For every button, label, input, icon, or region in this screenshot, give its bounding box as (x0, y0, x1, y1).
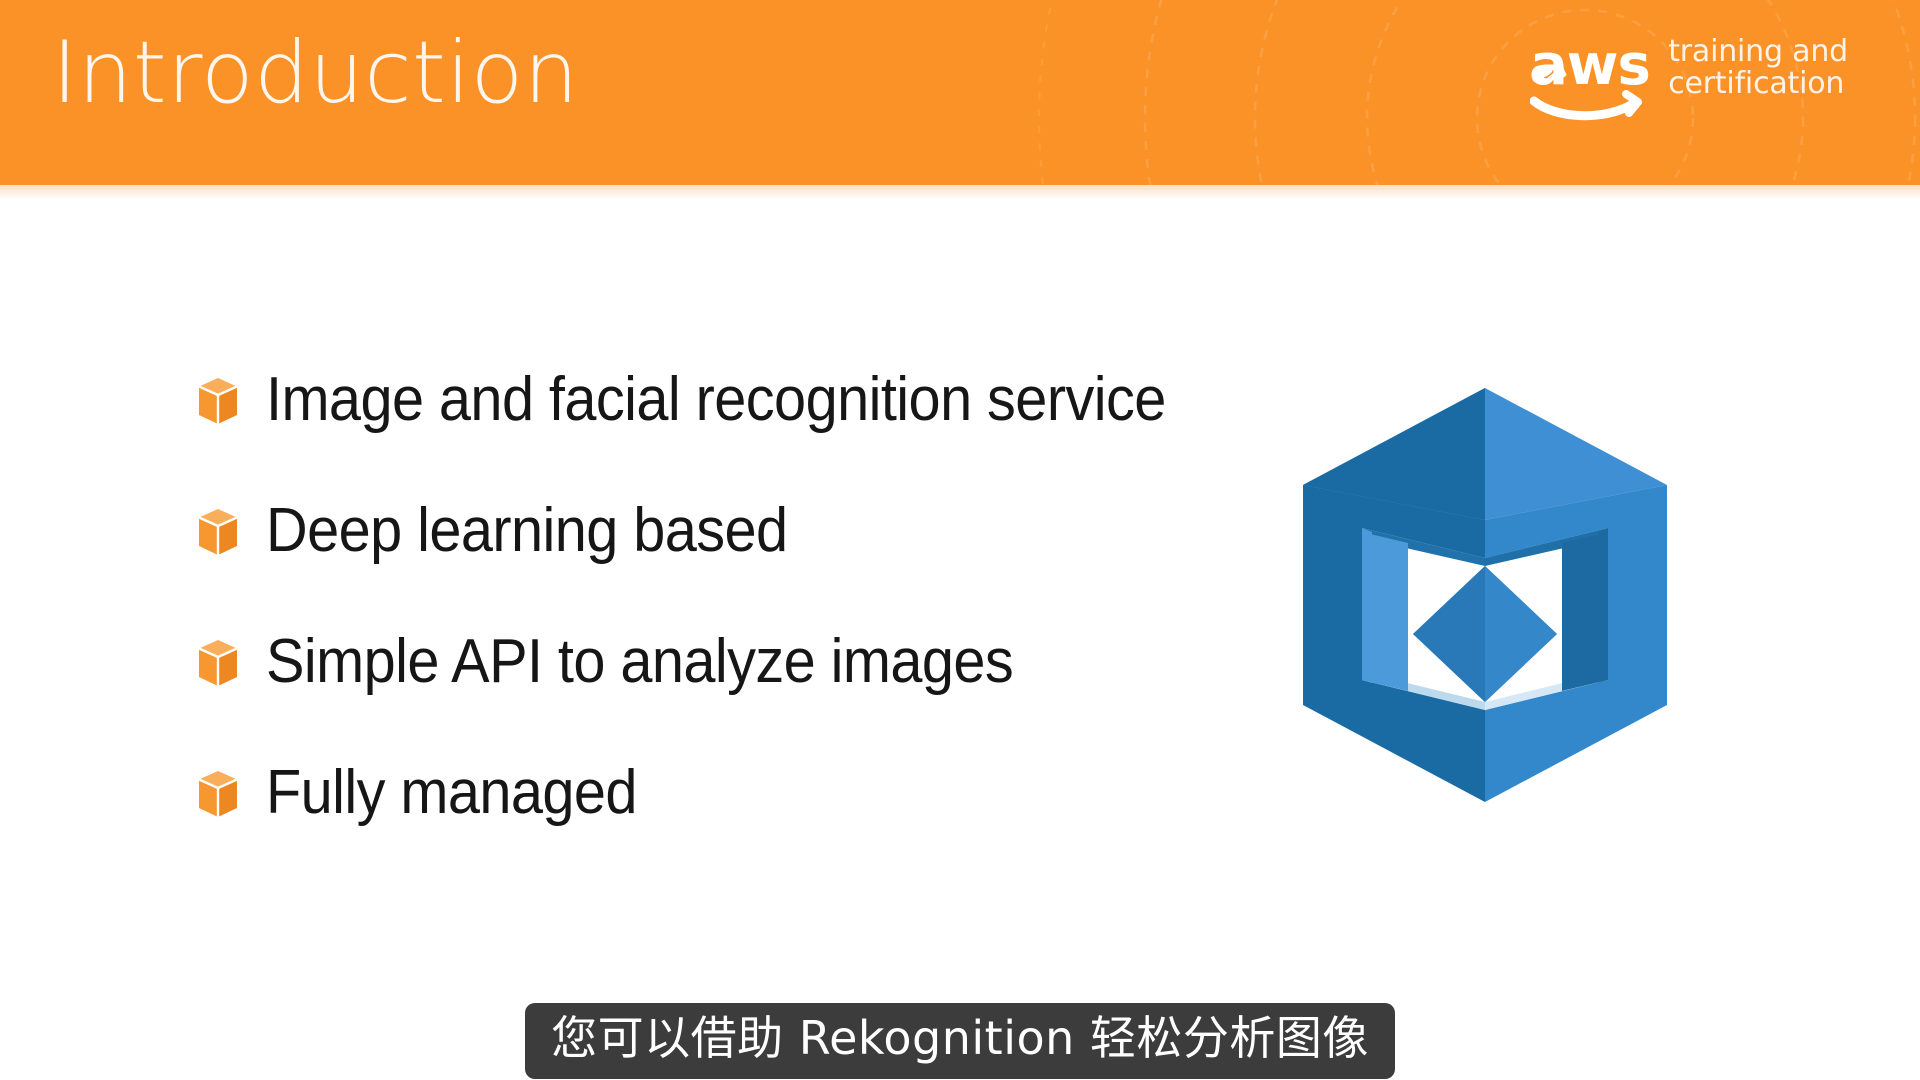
aws-cube-icon (196, 771, 240, 817)
aws-rekognition-logo-icon (1290, 380, 1680, 810)
page-title: Introduction (52, 24, 579, 123)
aws-cube-icon (196, 509, 240, 555)
svg-text:aws: aws (1530, 33, 1650, 98)
aws-tagline-line-1: training and (1668, 36, 1848, 68)
aws-logo-icon: aws (1530, 30, 1650, 126)
list-item: Image and facial recognition service (196, 348, 1256, 452)
aws-cube-icon (196, 640, 240, 686)
list-item-label: Image and facial recognition service (266, 369, 1166, 431)
subtitle-caption: 您可以借助 Rekognition 轻松分析图像 (0, 1003, 1920, 1079)
slide-header-bar: Introduction aws training and certificat… (0, 0, 1920, 185)
aws-tagline: training and certification (1668, 30, 1848, 100)
list-item: Fully managed (196, 741, 1256, 845)
aws-cube-icon (196, 378, 240, 424)
list-item-label: Simple API to analyze images (266, 631, 1013, 693)
list-item: Deep learning based (196, 479, 1256, 583)
caption-text: 您可以借助 Rekognition 轻松分析图像 (525, 1003, 1395, 1079)
aws-brand-lockup: aws training and certification (1530, 30, 1848, 126)
list-item-label: Fully managed (266, 762, 637, 824)
aws-tagline-line-2: certification (1668, 68, 1848, 100)
bullet-list: Image and facial recognition service Dee… (196, 348, 1256, 872)
list-item-label: Deep learning based (266, 500, 788, 562)
list-item: Simple API to analyze images (196, 610, 1256, 714)
slide-body: Image and facial recognition service Dee… (0, 185, 1920, 1080)
